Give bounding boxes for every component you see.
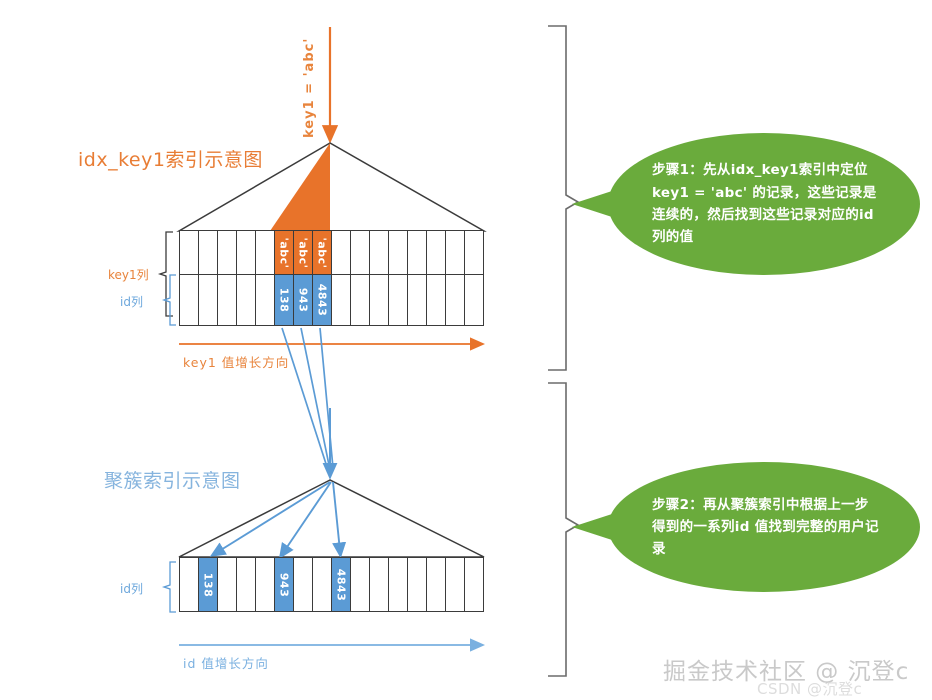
upper-id-cell [256,275,275,325]
upper-key1-cell-value: 'abc' [278,237,291,268]
id-row-brace-upper [164,275,176,325]
upper-id-cell [446,275,465,325]
upper-id-cell: 4843 [313,275,332,325]
upper-key1-cell [180,231,199,274]
upper-id-row: 1389434843 [179,274,484,326]
id-column-label-upper: id列 [120,293,143,310]
lower-id-cell [256,558,275,611]
lower-id-cell [427,558,446,611]
lower-id-cell [408,558,427,611]
key1-growth-axis-label: key1 值增长方向 [183,352,289,371]
upper-key1-cell [351,231,370,274]
lower-diagram-title: 聚簇索引示意图 [104,466,241,493]
upper-key1-cell: 'abc' [294,231,313,274]
upper-key1-cell [408,231,427,274]
upper-key1-cell [199,231,218,274]
upper-key1-cell [332,231,351,274]
lower-id-cell [294,558,313,611]
lower-id-cell [351,558,370,611]
callout-step1-text: 步骤1：先从idx_key1索引中定位 key1 = 'abc' 的记录，这些记… [608,159,920,248]
id-row-brace-lower [164,562,176,612]
upper-key1-cell [389,231,408,274]
lower-id-cell [465,558,483,611]
upper-key1-cell-value: 'abc' [297,237,310,268]
upper-key1-cell [465,231,483,274]
lower-id-cell-value: 943 [278,572,291,596]
upper-id-cell-value: 4843 [316,284,329,317]
callout-step2-text: 步骤2：再从聚簇索引中根据上一步得到的一系列id 值找到完整的用户记录 [608,494,920,561]
lower-id-cell [237,558,256,611]
key1-column-label: key1列 [108,266,149,283]
lower-id-row: 1389434843 [179,557,484,612]
lower-id-cell: 138 [199,558,218,611]
lower-id-cell [313,558,332,611]
upper-id-cell: 138 [275,275,294,325]
upper-id-cell [351,275,370,325]
upper-key1-cell [427,231,446,274]
diagram-canvas: key1 = 'abc' idx_key1索引示意图 key1列 id列 'ab… [0,0,932,700]
upper-id-cell [332,275,351,325]
callout-step2: 步骤2：再从聚簇索引中根据上一步得到的一系列id 值找到完整的用户记录 [608,462,920,592]
upper-id-cell [408,275,427,325]
lower-id-cell [446,558,465,611]
upper-key1-cell: 'abc' [275,231,294,274]
upper-id-cell [180,275,199,325]
upper-id-cell: 943 [294,275,313,325]
upper-key1-cell [370,231,389,274]
id-column-label-lower: id列 [120,580,143,597]
lower-id-cell [389,558,408,611]
upper-key1-cell [218,231,237,274]
upper-id-cell [237,275,256,325]
upper-key1-cell [446,231,465,274]
upper-id-cell [389,275,408,325]
upper-id-cell [199,275,218,325]
watermark-csdn: CSDN @沉登c [757,678,862,699]
key1-row-brace [160,232,173,316]
lower-id-cell [218,558,237,611]
upper-id-cell [218,275,237,325]
lower-id-cell [370,558,389,611]
upper-key1-cell-value: 'abc' [316,237,329,268]
upper-key1-cell [256,231,275,274]
upper-key1-cell [237,231,256,274]
lower-id-cell-value: 138 [202,572,215,596]
upper-id-cell-value: 138 [278,288,291,312]
upper-id-cell [370,275,389,325]
upper-key1-row: 'abc''abc''abc' [179,230,484,275]
id-growth-axis-label: id 值增长方向 [183,653,269,672]
upper-id-cell [465,275,483,325]
lower-id-cell [180,558,199,611]
lower-id-cell: 943 [275,558,294,611]
upper-diagram-title: idx_key1索引示意图 [78,145,263,172]
lower-id-cell: 4843 [332,558,351,611]
lower-id-cell-value: 4843 [335,568,348,601]
id-to-clustered-link-lines [282,328,333,472]
callout-step1: 步骤1：先从idx_key1索引中定位 key1 = 'abc' 的记录，这些记… [608,133,920,275]
callout-step2-tail [572,514,612,540]
callout-step1-tail [572,191,612,217]
key1-equals-abc-label: key1 = 'abc' [302,28,317,138]
upper-id-cell-value: 943 [297,288,310,312]
upper-key1-cell: 'abc' [313,231,332,274]
upper-id-cell [427,275,446,325]
